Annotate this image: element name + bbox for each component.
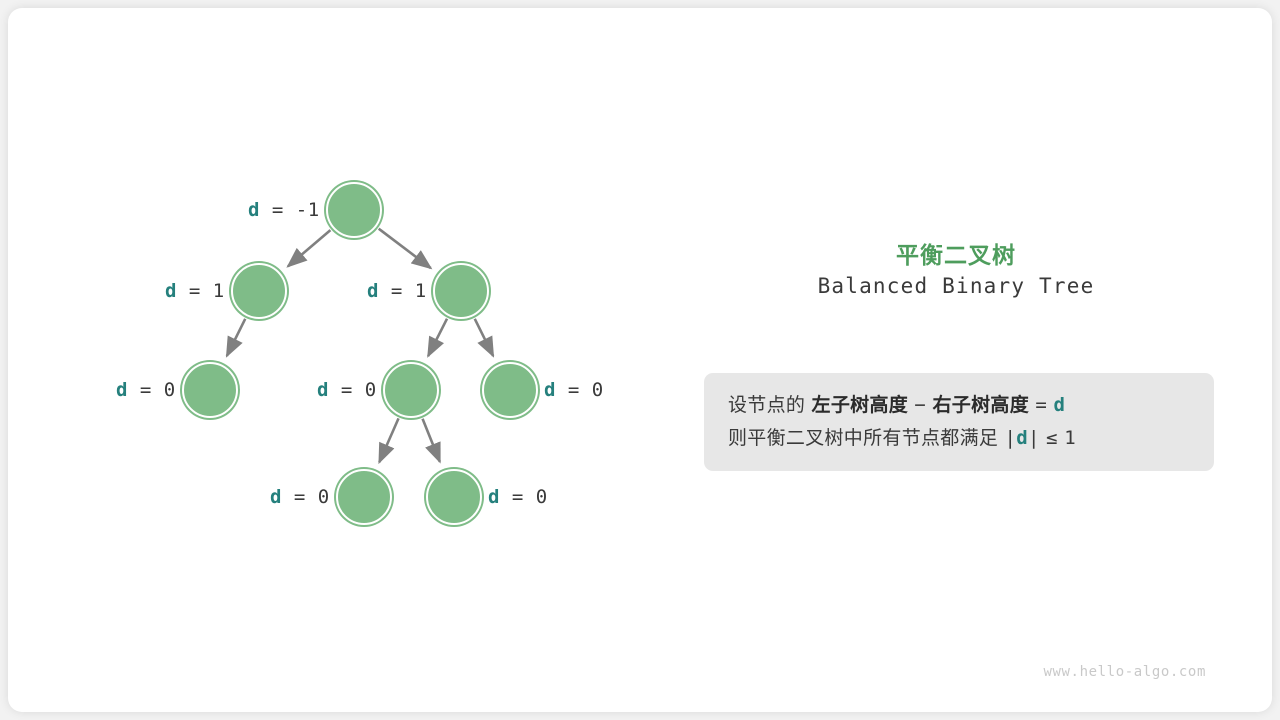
tree-edge-n-rl-to-n-rll [379, 418, 398, 462]
balance-factor-variable: d [544, 379, 556, 401]
balance-factor-label-n-rll: d = 0 [270, 486, 330, 508]
balance-factor-value: = 0 [128, 379, 176, 401]
binary-tree-diagram: d = -1d = 1d = 1d = 0d = 0d = 0d = 0d = … [8, 8, 668, 720]
balance-factor-value: = 0 [329, 379, 377, 401]
tree-edge-n-r-to-n-rl [428, 319, 447, 356]
less-equal-sign: ≤ [1046, 427, 1058, 449]
panel-title: 平衡二叉树 [668, 236, 1244, 270]
callout-term-left-subtree-height: 左子树高度 [812, 394, 909, 416]
balance-factor-value: = -1 [260, 199, 320, 221]
balance-factor-label-n-rlr: d = 0 [488, 486, 548, 508]
balance-factor-label-n-rr: d = 0 [544, 379, 604, 401]
callout-minus-sign: − [914, 394, 926, 416]
callout-term-right-subtree-height: 右子树高度 [933, 394, 1030, 416]
site-watermark: www.hello-algo.com [1043, 664, 1206, 680]
balance-factor-variable: d [270, 486, 282, 508]
content-card: d = -1d = 1d = 1d = 0d = 0d = 0d = 0d = … [8, 8, 1272, 712]
balance-factor-variable: d [367, 280, 379, 302]
panel-subtitle: Balanced Binary Tree [668, 274, 1244, 298]
tree-edge-root-to-n-r [379, 229, 431, 268]
tree-node-n-ll[interactable] [182, 362, 238, 418]
tree-node-n-r[interactable] [433, 263, 489, 319]
callout-variable-d-abs: d [1016, 427, 1028, 449]
callout-line1-prefix: 设节点的 [728, 394, 805, 416]
balance-factor-value: = 1 [379, 280, 427, 302]
balance-factor-label-n-rl: d = 0 [317, 379, 377, 401]
balance-factor-value: = 0 [500, 486, 548, 508]
balance-factor-variable: d [488, 486, 500, 508]
callout-bound-value: 1 [1064, 427, 1076, 449]
screenshot-canvas: d = -1d = 1d = 1d = 0d = 0d = 0d = 0d = … [0, 0, 1280, 720]
balance-factor-value: = 0 [556, 379, 604, 401]
tree-edge-n-rl-to-n-rlr [423, 419, 440, 462]
callout-line2-prefix: 则平衡二叉树中所有节点都满足 [728, 427, 998, 449]
balance-factor-label-n-ll: d = 0 [116, 379, 176, 401]
tree-node-n-rr[interactable] [482, 362, 538, 418]
tree-node-n-rll[interactable] [336, 469, 392, 525]
callout-line-2: 则平衡二叉树中所有节点都满足 |d| ≤ 1 [728, 422, 1190, 455]
tree-node-root[interactable] [326, 182, 382, 238]
tree-node-n-l[interactable] [231, 263, 287, 319]
balance-factor-value: = 0 [282, 486, 330, 508]
tree-node-n-rl[interactable] [383, 362, 439, 418]
callout-line-1: 设节点的 左子树高度 − 右子树高度 = d [728, 389, 1190, 422]
tree-node-n-rlr[interactable] [426, 469, 482, 525]
definition-callout: 设节点的 左子树高度 − 右子树高度 = d 则平衡二叉树中所有节点都满足 |d… [704, 373, 1214, 471]
tree-edge-n-l-to-n-ll [227, 319, 245, 356]
balance-factor-label-root: d = -1 [248, 199, 320, 221]
balance-factor-variable: d [317, 379, 329, 401]
balance-factor-label-n-r: d = 1 [367, 280, 427, 302]
abs-bar-open: | [1005, 427, 1017, 449]
callout-equals-sign: = [1035, 394, 1047, 416]
balance-factor-variable: d [116, 379, 128, 401]
balance-factor-variable: d [248, 199, 260, 221]
callout-variable-d: d [1053, 394, 1065, 416]
balance-factor-label-n-l: d = 1 [165, 280, 225, 302]
tree-edge-n-r-to-n-rr [475, 319, 493, 356]
info-panel: 平衡二叉树 Balanced Binary Tree 设节点的 左子树高度 − … [668, 8, 1280, 720]
tree-edges-layer [8, 8, 668, 720]
tree-edge-root-to-n-l [288, 230, 330, 266]
balance-factor-variable: d [165, 280, 177, 302]
abs-bar-close: | [1028, 427, 1040, 449]
balance-factor-value: = 1 [177, 280, 225, 302]
